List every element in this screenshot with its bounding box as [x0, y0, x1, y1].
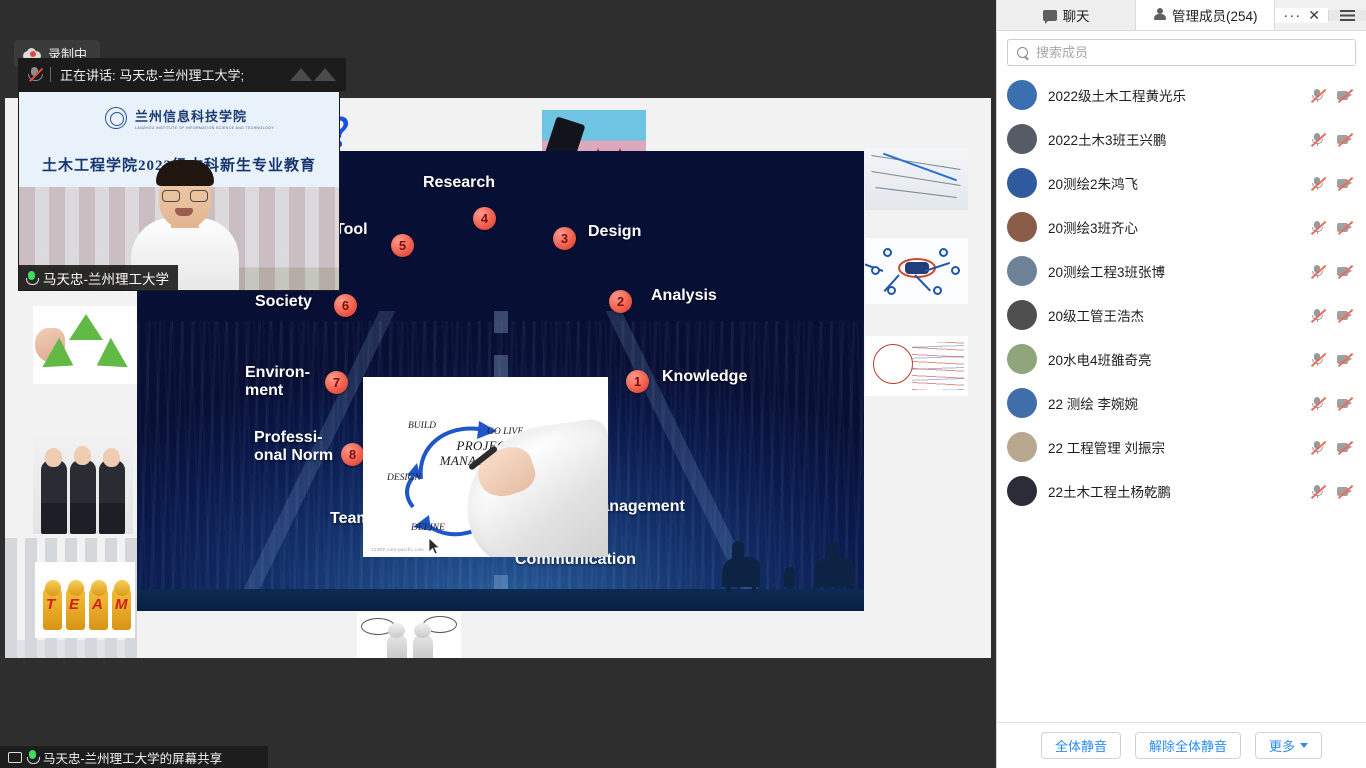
participant-status-icons — [1310, 352, 1352, 367]
mouse-cursor — [429, 538, 441, 555]
staff-team-photo — [33, 434, 133, 534]
pm-step-design: DESIGN — [387, 473, 421, 483]
pm-step-build: BUILD — [408, 421, 436, 431]
tab-chat-label: 聊天 — [1063, 5, 1090, 25]
mute-all-label: 全体静音 — [1055, 736, 1107, 755]
search-box[interactable] — [1007, 39, 1356, 66]
avatar — [1007, 476, 1037, 506]
node-number-5: 5 — [391, 234, 414, 257]
list-item[interactable]: 2022级土木工程黄光乐 — [997, 73, 1366, 117]
meeting-window: 录制中 大学学什么？ tool photo T — [0, 0, 1366, 768]
mic-on-icon — [26, 271, 37, 285]
node-number-1: 1 — [626, 370, 649, 393]
mic-muted-icon[interactable] — [1310, 220, 1325, 235]
screen-share-status-bar: 马天忠-兰州理工大学的屏幕共享 — [0, 746, 268, 768]
university-name-en: LANZHOU INSTITUTE OF INFORMATION SCIENCE… — [135, 126, 274, 130]
search-input[interactable] — [1036, 45, 1346, 60]
camera-off-icon[interactable] — [1337, 132, 1352, 147]
participant-list[interactable]: 2022级土木工程黄光乐 2022土木3班王兴鹏 20测绘2朱鸿飞 — [997, 73, 1366, 722]
camera-off-icon[interactable] — [1337, 264, 1352, 279]
more-label: 更多 — [1269, 736, 1295, 755]
participant-name: 20级工管王浩杰 — [1048, 305, 1299, 325]
panel-menu-button[interactable] — [1328, 10, 1366, 21]
mic-muted-icon[interactable] — [1310, 132, 1325, 147]
avatar — [1007, 124, 1037, 154]
participant-status-icons — [1310, 220, 1352, 235]
tab-manage-members-label: 管理成员(254) — [1172, 5, 1258, 25]
camera-off-icon[interactable] — [1337, 352, 1352, 367]
camera-off-icon[interactable] — [1337, 440, 1352, 455]
person-icon — [1153, 8, 1166, 21]
mute-all-button[interactable]: 全体静音 — [1041, 732, 1121, 759]
participant-name: 22 测绘 李婉婉 — [1048, 393, 1299, 413]
screen-share-icon — [8, 752, 22, 763]
unmute-all-label: 解除全体静音 — [1149, 736, 1227, 755]
participant-status-icons — [1310, 440, 1352, 455]
project-management-photo: PROJECT MANAGEMENT BUILD GO LIVE ASSESS … — [363, 377, 608, 557]
active-speaker-banner: 正在讲话: 马天忠-兰州理工大学; — [18, 58, 346, 91]
node-number-6: 6 — [334, 294, 357, 317]
pm-photo-credit: 123RF.com-pacific.com — [371, 547, 424, 552]
team-figures-photo: T E A M — [35, 562, 135, 638]
participants-panel: 聊天 管理成员(254) ··· ✕ — [996, 0, 1366, 768]
mic-muted-icon — [28, 67, 41, 82]
avatar — [1007, 388, 1037, 418]
mic-muted-icon[interactable] — [1310, 176, 1325, 191]
university-name-cn: 兰州信息科技学院 — [135, 109, 247, 124]
participant-name: 22 工程管理 刘振宗 — [1048, 437, 1299, 457]
more-button[interactable]: 更多 — [1255, 732, 1322, 759]
panel-tab-bar: 聊天 管理成员(254) ··· ✕ — [997, 0, 1366, 31]
node-label-research: Research — [423, 174, 495, 192]
search-area — [997, 31, 1366, 73]
communication-photo — [357, 612, 461, 658]
list-item[interactable]: 20测绘2朱鸿飞 — [997, 161, 1366, 205]
mic-muted-icon[interactable] — [1310, 264, 1325, 279]
close-icon[interactable]: ✕ — [1308, 8, 1320, 22]
list-item[interactable]: 20测绘工程3班张博 — [997, 249, 1366, 293]
participant-name: 22土木工程土杨乾鹏 — [1048, 481, 1299, 501]
participant-status-icons — [1310, 484, 1352, 499]
panel-footer: 全体静音 解除全体静音 更多 — [997, 722, 1366, 768]
hamburger-icon — [1340, 10, 1355, 21]
tab-bar-actions: ··· ✕ — [1275, 0, 1366, 30]
node-label-knowledge: Knowledge — [662, 368, 747, 386]
node-label-design: Design — [588, 223, 641, 241]
node-number-8: 8 — [341, 443, 364, 466]
participant-status-icons — [1310, 264, 1352, 279]
avatar — [1007, 256, 1037, 286]
meeting-logo-icon — [290, 68, 336, 81]
avatar — [1007, 168, 1037, 198]
participant-name: 20测绘3班齐心 — [1048, 217, 1299, 237]
list-item[interactable]: 2022土木3班王兴鹏 — [997, 117, 1366, 161]
camera-off-icon[interactable] — [1337, 88, 1352, 103]
camera-off-icon[interactable] — [1337, 484, 1352, 499]
avatar — [1007, 432, 1037, 462]
mic-muted-icon[interactable] — [1310, 352, 1325, 367]
camera-off-icon[interactable] — [1337, 220, 1352, 235]
mic-muted-icon[interactable] — [1310, 308, 1325, 323]
screen-share-label: 马天忠-兰州理工大学的屏幕共享 — [43, 748, 222, 767]
participant-status-icons — [1310, 396, 1352, 411]
node-label-analysis: Analysis — [651, 287, 717, 305]
mic-on-icon — [27, 750, 38, 764]
video-name-label: 马天忠-兰州理工大学 — [43, 268, 169, 288]
avatar — [1007, 300, 1037, 330]
camera-off-icon[interactable] — [1337, 176, 1352, 191]
active-speaker-label: 正在讲话: 马天忠-兰州理工大学; — [60, 65, 244, 84]
search-icon — [1017, 47, 1029, 59]
participant-name: 2022级土木工程黄光乐 — [1048, 85, 1299, 105]
chevron-down-icon — [1300, 743, 1308, 748]
avatar — [1007, 344, 1037, 374]
participant-status-icons — [1310, 132, 1352, 147]
mic-muted-icon[interactable] — [1310, 484, 1325, 499]
node-number-7: 7 — [325, 371, 348, 394]
mic-muted-icon[interactable] — [1310, 440, 1325, 455]
camera-off-icon[interactable] — [1337, 308, 1352, 323]
more-options-icon[interactable]: ··· — [1283, 8, 1301, 23]
list-item[interactable]: 20级工管王浩杰 — [997, 293, 1366, 337]
camel-caravan-graphic — [718, 503, 858, 593]
list-item[interactable]: 20水电4班雒奇亮 — [997, 337, 1366, 381]
node-number-4: 4 — [473, 207, 496, 230]
node-label-society: Society — [255, 293, 312, 311]
tab-manage-members[interactable]: 管理成员(254) — [1136, 0, 1275, 30]
chat-icon — [1043, 10, 1057, 21]
university-logo: 兰州信息科技学院 LANZHOU INSTITUTE OF INFORMATIO… — [105, 106, 274, 130]
video-name-badge: 马天忠-兰州理工大学 — [19, 265, 178, 290]
active-speaker-video[interactable]: 兰州信息科技学院 LANZHOU INSTITUTE OF INFORMATIO… — [18, 91, 340, 291]
camera-off-icon[interactable] — [1337, 396, 1352, 411]
participant-name: 20测绘工程3班张博 — [1048, 261, 1299, 281]
structural-drawing-photo — [865, 148, 968, 210]
pm-step-define: DEFINE — [411, 523, 445, 533]
list-item[interactable]: 22土木工程土杨乾鹏 — [997, 469, 1366, 513]
participant-status-icons — [1310, 88, 1352, 103]
participant-status-icons — [1310, 176, 1352, 191]
participant-name: 20测绘2朱鸿飞 — [1048, 173, 1299, 193]
list-item[interactable]: 22 工程管理 刘振宗 — [997, 425, 1366, 469]
mic-muted-icon[interactable] — [1310, 88, 1325, 103]
unmute-all-button[interactable]: 解除全体静音 — [1135, 732, 1241, 759]
list-item[interactable]: 20测绘3班齐心 — [997, 205, 1366, 249]
participant-name: 20水电4班雒奇亮 — [1048, 349, 1299, 369]
node-label-professional-norm: Professi- onal Norm — [254, 429, 333, 465]
math-notes-photo — [865, 336, 968, 396]
list-item[interactable]: 22 测绘 李婉婉 — [997, 381, 1366, 425]
participant-name: 2022土木3班王兴鹏 — [1048, 129, 1299, 149]
recycle-photo — [33, 306, 138, 384]
avatar — [1007, 80, 1037, 110]
participant-status-icons — [1310, 308, 1352, 323]
tab-chat[interactable]: 聊天 — [997, 0, 1136, 30]
mic-muted-icon[interactable] — [1310, 396, 1325, 411]
university-emblem-icon — [105, 107, 127, 129]
network-diagram-photo — [865, 238, 968, 304]
node-label-environment: Environ- ment — [245, 364, 310, 400]
node-number-3: 3 — [553, 227, 576, 250]
avatar — [1007, 212, 1037, 242]
node-number-2: 2 — [609, 290, 632, 313]
